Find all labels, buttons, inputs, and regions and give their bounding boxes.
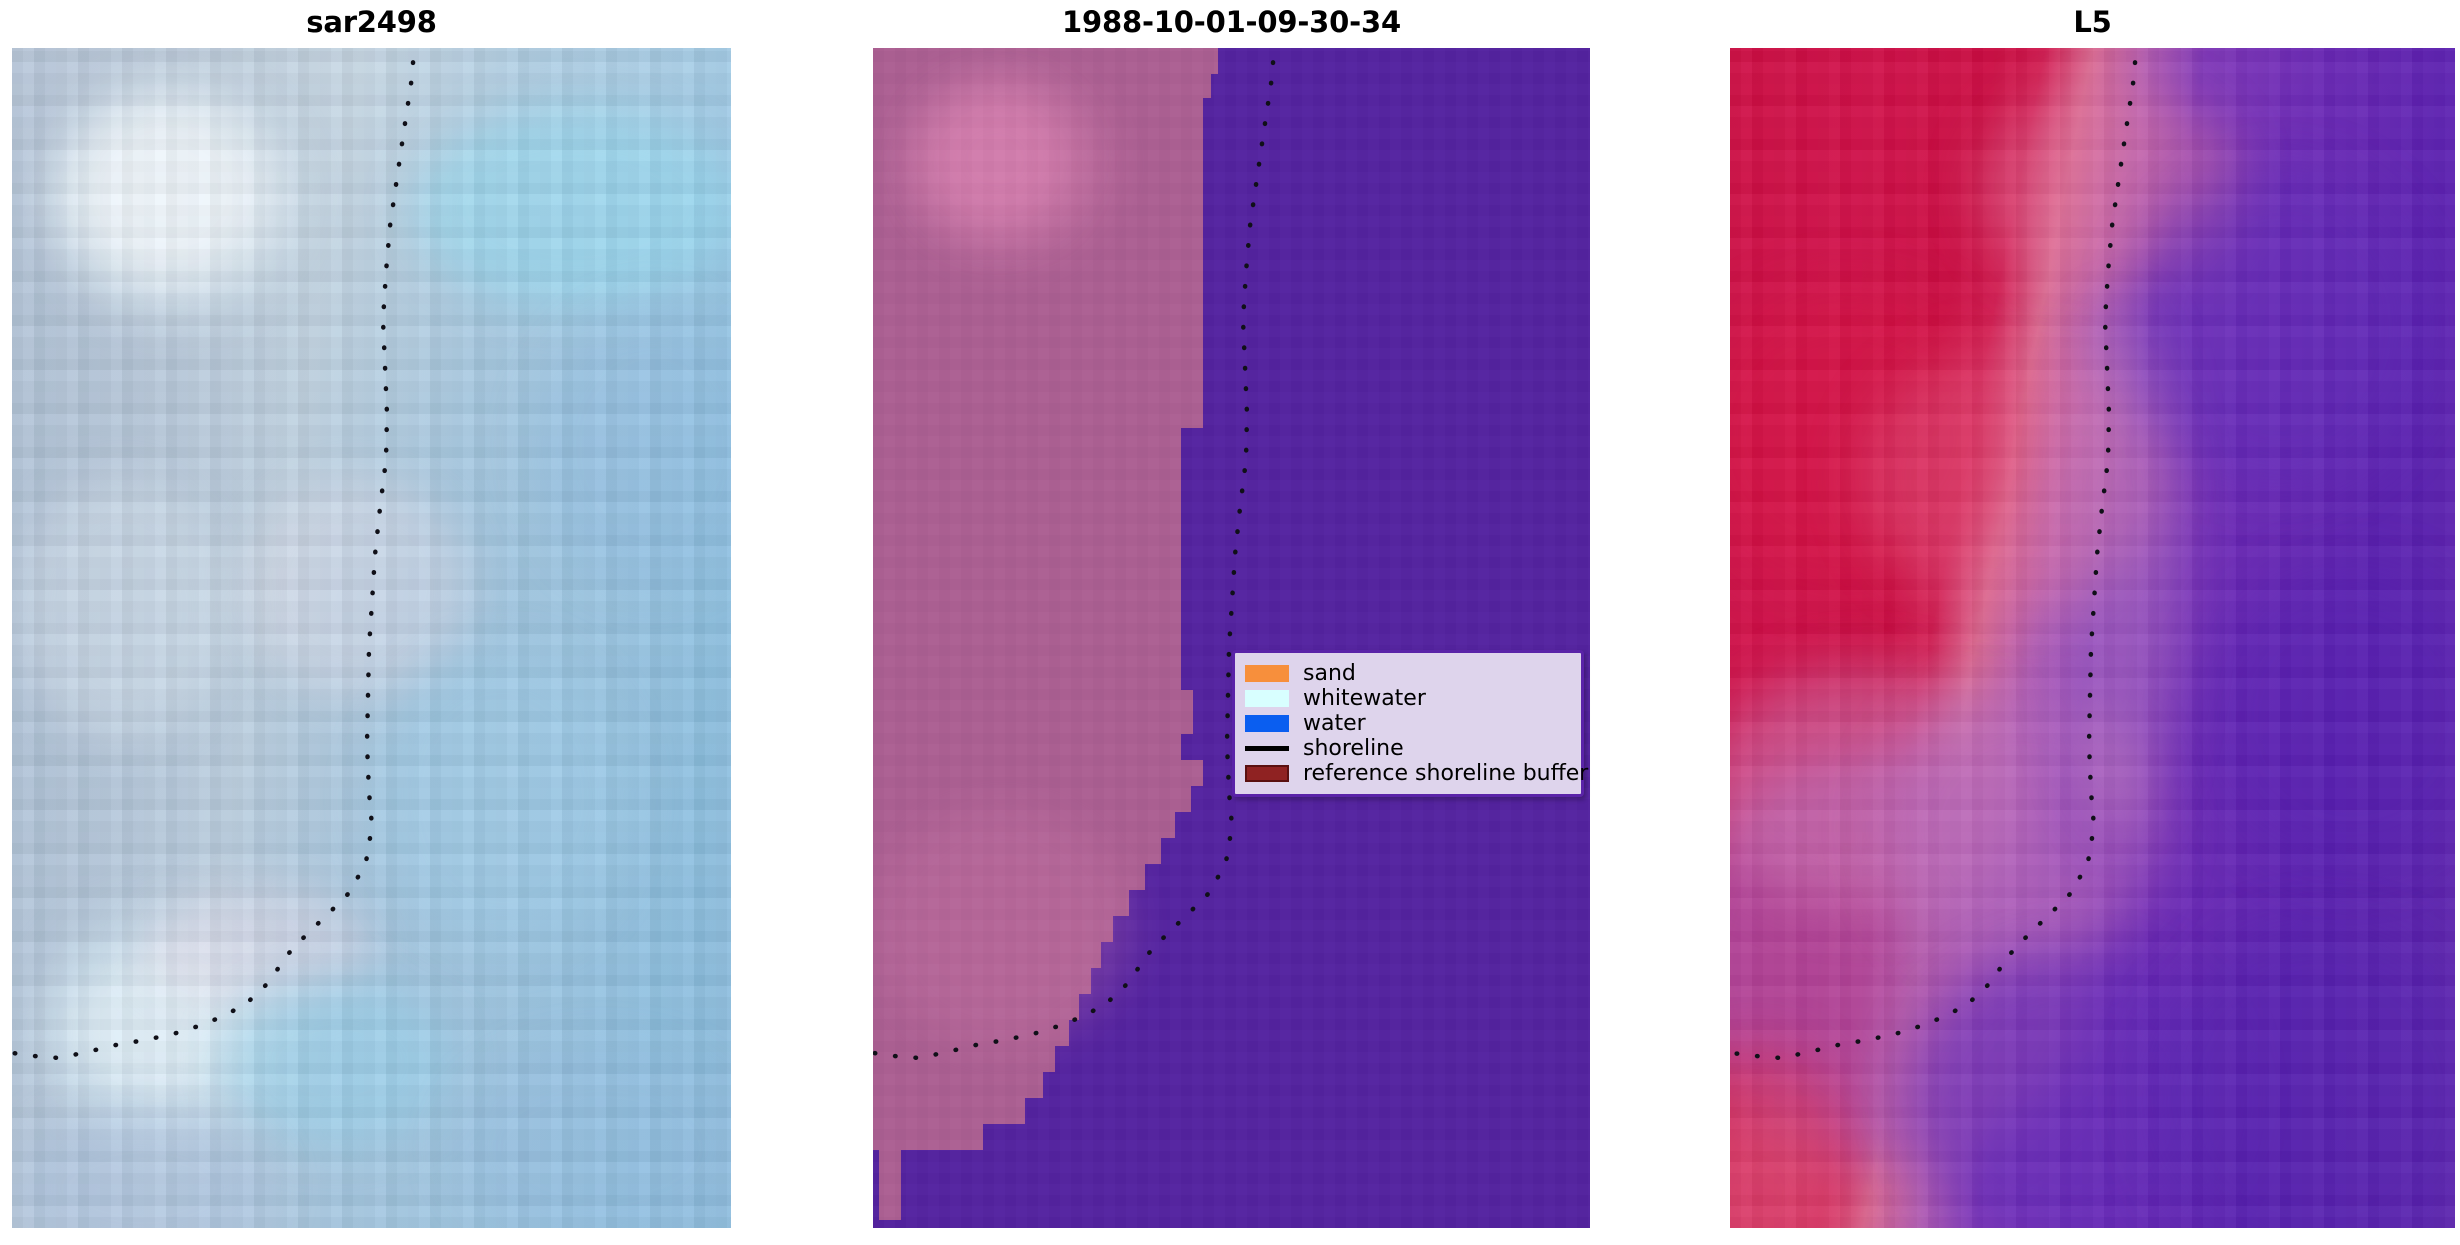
legend-item-water[interactable]: water	[1245, 711, 1571, 736]
panel-title-l5: L5	[1730, 2, 2455, 42]
sar-image-panel[interactable]	[12, 48, 731, 1228]
panel-title-classification: 1988-10-01-09-30-34	[873, 2, 1590, 42]
legend-item-shoreline[interactable]: shoreline	[1245, 736, 1571, 761]
l5-image-panel[interactable]	[1730, 48, 2455, 1228]
legend-item-sand[interactable]: sand	[1245, 661, 1571, 686]
legend-item-reference-shoreline-buffer[interactable]: reference shoreline buffer	[1245, 761, 1571, 786]
l5-texture	[1730, 48, 2455, 1228]
panel-title-sar: sar2498	[12, 2, 731, 42]
legend-label-reference-shoreline-buffer: reference shoreline buffer	[1303, 763, 1588, 785]
water-swatch	[1245, 715, 1289, 732]
land-class-region	[873, 48, 1590, 1228]
shoreline-swatch	[1245, 746, 1289, 751]
whitewater-swatch	[1245, 690, 1289, 707]
legend-box[interactable]: sand whitewater water shoreline referenc…	[1232, 650, 1584, 797]
sand-swatch	[1245, 665, 1289, 682]
legend-label-shoreline: shoreline	[1303, 738, 1404, 760]
figure-canvas: sar2498 1988-10-01-09-30-34	[0, 0, 2460, 1245]
reference-shoreline-buffer-swatch	[1245, 765, 1289, 782]
legend-item-whitewater[interactable]: whitewater	[1245, 686, 1571, 711]
legend-label-sand: sand	[1303, 663, 1356, 685]
legend-label-water: water	[1303, 713, 1366, 735]
legend-label-whitewater: whitewater	[1303, 688, 1426, 710]
classification-image-panel[interactable]	[873, 48, 1590, 1228]
sar-texture	[12, 48, 731, 1228]
